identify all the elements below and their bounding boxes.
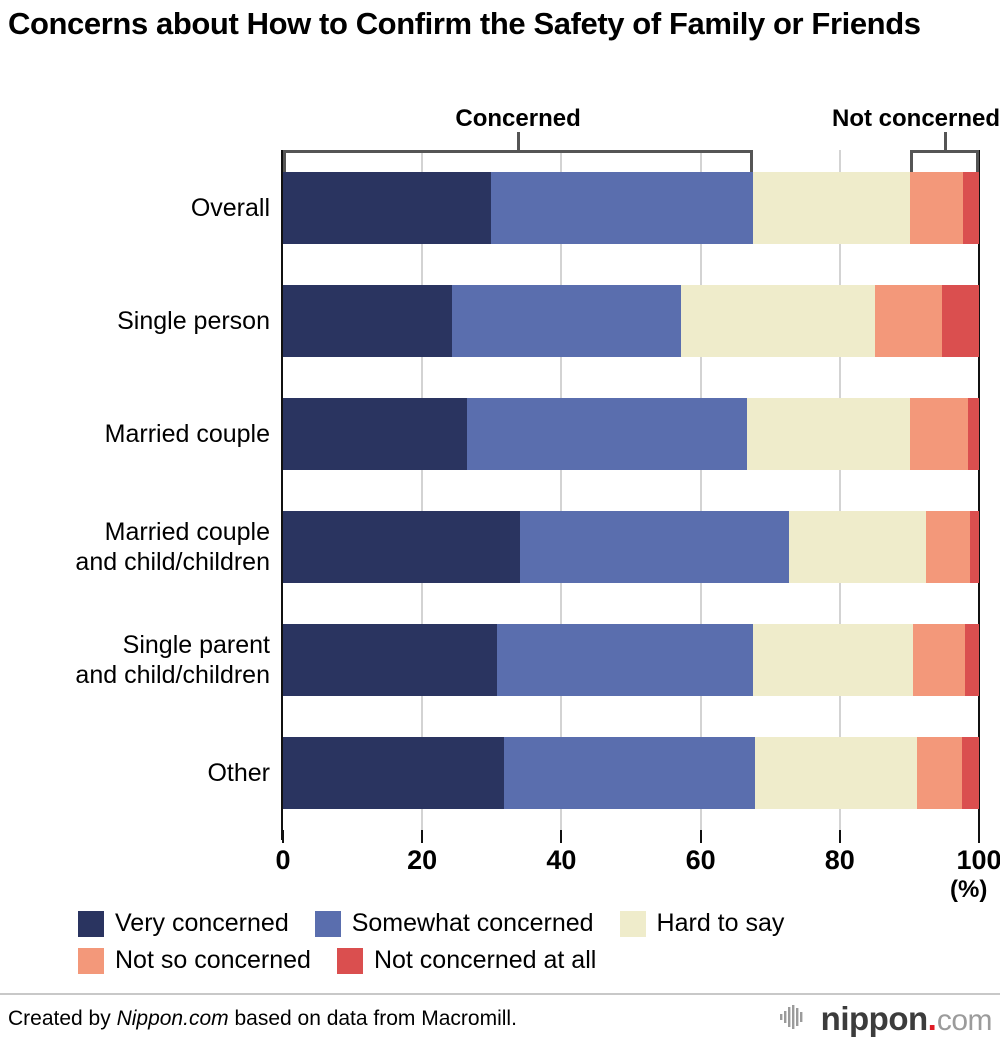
bar-segment (283, 398, 467, 470)
tick-label-60: 60 (686, 845, 716, 876)
bar-row (283, 398, 979, 470)
bar-row (283, 624, 979, 696)
legend-label: Somewhat concerned (352, 909, 594, 938)
bar-segment (753, 624, 912, 696)
tick-mark-20 (421, 830, 423, 843)
axis-unit-label: (%) (950, 876, 987, 904)
bar-segment (283, 737, 504, 809)
stacked-bar-chart: ConcernedNot concerned OverallSingle per… (0, 0, 1000, 1046)
bar-segment (283, 624, 497, 696)
tick-mark-0 (282, 830, 284, 843)
bar-segment (913, 624, 965, 696)
bar-segment (491, 172, 753, 244)
category-label: Married coupleand child/children (0, 517, 270, 577)
bar-segment (753, 172, 910, 244)
gridline-80 (839, 150, 841, 830)
category-label: Single parentand child/children (0, 630, 270, 690)
bar-segment (926, 511, 970, 583)
gridline-60 (700, 150, 702, 830)
bar-row (283, 285, 979, 357)
bracket-label-concerned: Concerned (455, 105, 580, 133)
bar-segment (942, 285, 979, 357)
gridline-20 (421, 150, 423, 830)
chart-legend: Very concernedSomewhat concernedHard to … (78, 905, 978, 979)
legend-swatch (337, 948, 363, 974)
credit-source-name: Nippon.com (117, 1007, 229, 1030)
legend-row: Very concernedSomewhat concernedHard to … (78, 905, 978, 942)
nippon-logo: nippon . com (780, 1000, 992, 1038)
gridline-40 (560, 150, 562, 830)
legend-label: Very concerned (115, 909, 289, 938)
brand-name: nippon (821, 1000, 928, 1038)
tick-mark-100 (978, 830, 980, 843)
bar-segment (755, 737, 917, 809)
legend-item: Very concerned (78, 909, 289, 938)
legend-row: Not so concernedNot concerned at all (78, 942, 978, 979)
legend-swatch (315, 911, 341, 937)
bracket-stem-not-concerned (944, 132, 947, 150)
bar-segment (875, 285, 942, 357)
bar-segment (681, 285, 875, 357)
category-label: Overall (0, 193, 270, 223)
tick-mark-40 (560, 830, 562, 843)
legend-label: Not concerned at all (374, 946, 596, 975)
bar-segment (747, 398, 910, 470)
bar-segment (910, 398, 968, 470)
category-label: Other (0, 758, 270, 788)
legend-label: Hard to say (657, 909, 785, 938)
bar-row (283, 737, 979, 809)
tick-label-40: 40 (546, 845, 576, 876)
bar-segment (467, 398, 747, 470)
bar-segment (970, 511, 979, 583)
bar-segment (520, 511, 789, 583)
category-label: Married couple (0, 419, 270, 449)
brand-dot: . (928, 1000, 937, 1038)
legend-swatch (78, 948, 104, 974)
credit-suffix: based on data from Macromill. (229, 1007, 517, 1030)
bar-row (283, 511, 979, 583)
tick-label-100: 100 (956, 845, 1000, 876)
credit-text: Created by Nippon.com based on data from… (8, 1007, 517, 1031)
legend-item: Hard to say (620, 909, 785, 938)
bar-segment (917, 737, 962, 809)
bar-segment (963, 172, 979, 244)
legend-swatch (620, 911, 646, 937)
bar-segment (968, 398, 979, 470)
legend-item: Somewhat concerned (315, 909, 594, 938)
bar-segment (497, 624, 753, 696)
legend-label: Not so concerned (115, 946, 311, 975)
bracket-stem-concerned (517, 132, 520, 150)
bracket-label-not-concerned: Not concerned (832, 105, 1000, 133)
bracket-concerned (283, 150, 753, 172)
wave-mark-icon (780, 1005, 814, 1034)
bar-segment (283, 172, 491, 244)
bar-segment (962, 737, 979, 809)
tick-mark-60 (700, 830, 702, 843)
tick-label-20: 20 (407, 845, 437, 876)
bar-segment (910, 172, 963, 244)
tick-label-80: 80 (825, 845, 855, 876)
footer-divider (0, 993, 1000, 995)
category-label: Single person (0, 306, 270, 336)
brand-tld: com (937, 1004, 992, 1038)
legend-item: Not so concerned (78, 946, 311, 975)
legend-item: Not concerned at all (337, 946, 596, 975)
tick-mark-80 (839, 830, 841, 843)
bar-segment (504, 737, 755, 809)
bracket-not-concerned (910, 150, 979, 172)
tick-label-0: 0 (275, 845, 290, 876)
bar-row (283, 172, 979, 244)
bar-segment (283, 511, 520, 583)
bar-segment (965, 624, 979, 696)
bar-segment (452, 285, 681, 357)
credit-prefix: Created by (8, 1007, 117, 1030)
legend-swatch (78, 911, 104, 937)
bar-segment (789, 511, 926, 583)
bar-segment (283, 285, 452, 357)
